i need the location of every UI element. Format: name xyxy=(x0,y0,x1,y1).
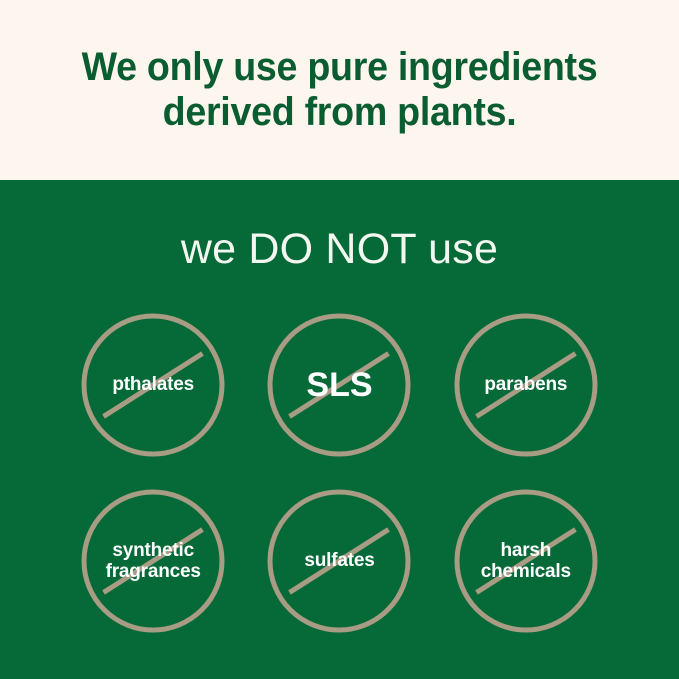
headline: We only use pure ingredients derived fro… xyxy=(20,45,658,135)
badge-label: SLS xyxy=(265,366,413,404)
ingredient-claims-poster: We only use pure ingredients derived fro… xyxy=(0,0,679,679)
badge-label: harsh chemicals xyxy=(452,540,600,583)
do-not-use-panel: we DO NOT use pthalates SLS xyxy=(0,180,679,679)
top-banner: We only use pure ingredients derived fro… xyxy=(0,0,679,180)
badge-label: synthetic fragrances xyxy=(79,540,227,583)
badge-label: pthalates xyxy=(79,374,227,395)
prohibited-badge-sulfates: sulfates xyxy=(265,487,413,635)
badge-label: parabens xyxy=(452,374,600,395)
section-subheading: we DO NOT use xyxy=(181,180,498,271)
prohibited-badge-pthalates: pthalates xyxy=(79,311,227,459)
prohibited-badge-sls: SLS xyxy=(265,311,413,459)
prohibited-ingredients-grid: pthalates SLS parabens xyxy=(0,297,679,649)
prohibited-badge-parabens: parabens xyxy=(452,311,600,459)
prohibited-badge-harsh-chemicals: harsh chemicals xyxy=(452,487,600,635)
prohibited-badge-synthetic-fragrances: synthetic fragrances xyxy=(79,487,227,635)
badge-label: sulfates xyxy=(265,550,413,571)
